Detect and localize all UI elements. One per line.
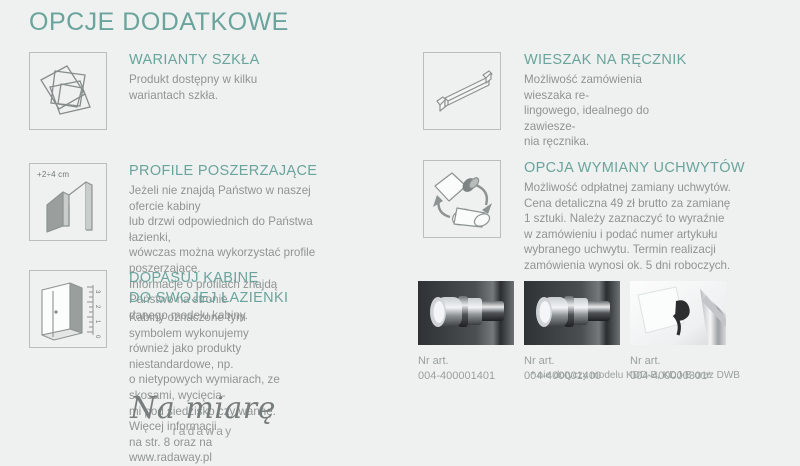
extension-profile-icon-label: +2÷4 cm — [37, 170, 69, 179]
svg-text:3: 3 — [94, 290, 100, 294]
chrome-knob-handle-photo — [418, 281, 514, 345]
logo-script-text: Na miarę — [128, 392, 278, 426]
feature-title: WIESZAK NA RĘCZNIK — [524, 52, 687, 69]
na-miare-logo: Na miarę radaway — [128, 392, 278, 438]
product-caption: Nr art. 004-400001401 — [418, 354, 514, 383]
stacked-glass-panes-icon — [29, 52, 107, 130]
logo-brand-text: radaway — [128, 424, 278, 438]
handle-exchange-icon — [423, 160, 501, 238]
cabin-measure-icon: 3 2 1 0 — [29, 270, 107, 348]
extension-profile-icon: +2÷4 cm — [29, 163, 107, 241]
feature-title: PROFILE POSZERZAJĄCE — [129, 163, 317, 180]
feature-title: OPCJA WYMIANY UCHWYTÓW — [524, 160, 745, 177]
product-item: Nr art. 004-400000301* — [630, 281, 726, 383]
page-title: OPCJE DODATKOWE — [29, 8, 289, 37]
chrome-knob-handle-photo — [524, 281, 620, 345]
feature-body: Możliwość zamówienia wieszaka re- lingow… — [524, 72, 687, 150]
chrome-hook-handle-photo — [630, 281, 726, 345]
product-footnote: * nie dotyczy modelu KDD-B, KDJ-B oraz D… — [531, 370, 740, 381]
feature-text-glass-variants: WARIANTY SZKŁA Produkt dostępny w kilku … — [129, 52, 260, 103]
feature-body: Produkt dostępny w kilku wariantach szkł… — [129, 72, 260, 103]
svg-text:1: 1 — [94, 320, 100, 324]
feature-title-line1: DOPASUJ KABINĘ — [129, 270, 288, 287]
feature-title-line2: DO SWOJEJ ŁAZIENKI — [129, 290, 288, 307]
feature-text-towel-rail: WIESZAK NA RĘCZNIK Możliwość zamówienia … — [524, 52, 687, 150]
svg-text:2: 2 — [94, 305, 100, 309]
product-item: Nr art. 004-400001400 — [524, 281, 620, 383]
page-root: OPCJE DODATKOWE WARIANTY SZKŁA Produkt d… — [0, 0, 800, 458]
towel-rail-icon — [423, 52, 501, 130]
product-item: Nr art. 004-400001401 — [418, 281, 514, 383]
svg-text:0: 0 — [94, 335, 100, 339]
feature-body: Kabiny oznaczone tym symbolem wykonujemy… — [129, 310, 288, 466]
feature-title: WARIANTY SZKŁA — [129, 52, 260, 69]
feature-text-handle-exchange: OPCJA WYMIANY UCHWYTÓW Możliwość odpłatn… — [524, 160, 745, 274]
feature-body: Możliwość odpłatnej zamiany uchwytów. Ce… — [524, 180, 745, 274]
